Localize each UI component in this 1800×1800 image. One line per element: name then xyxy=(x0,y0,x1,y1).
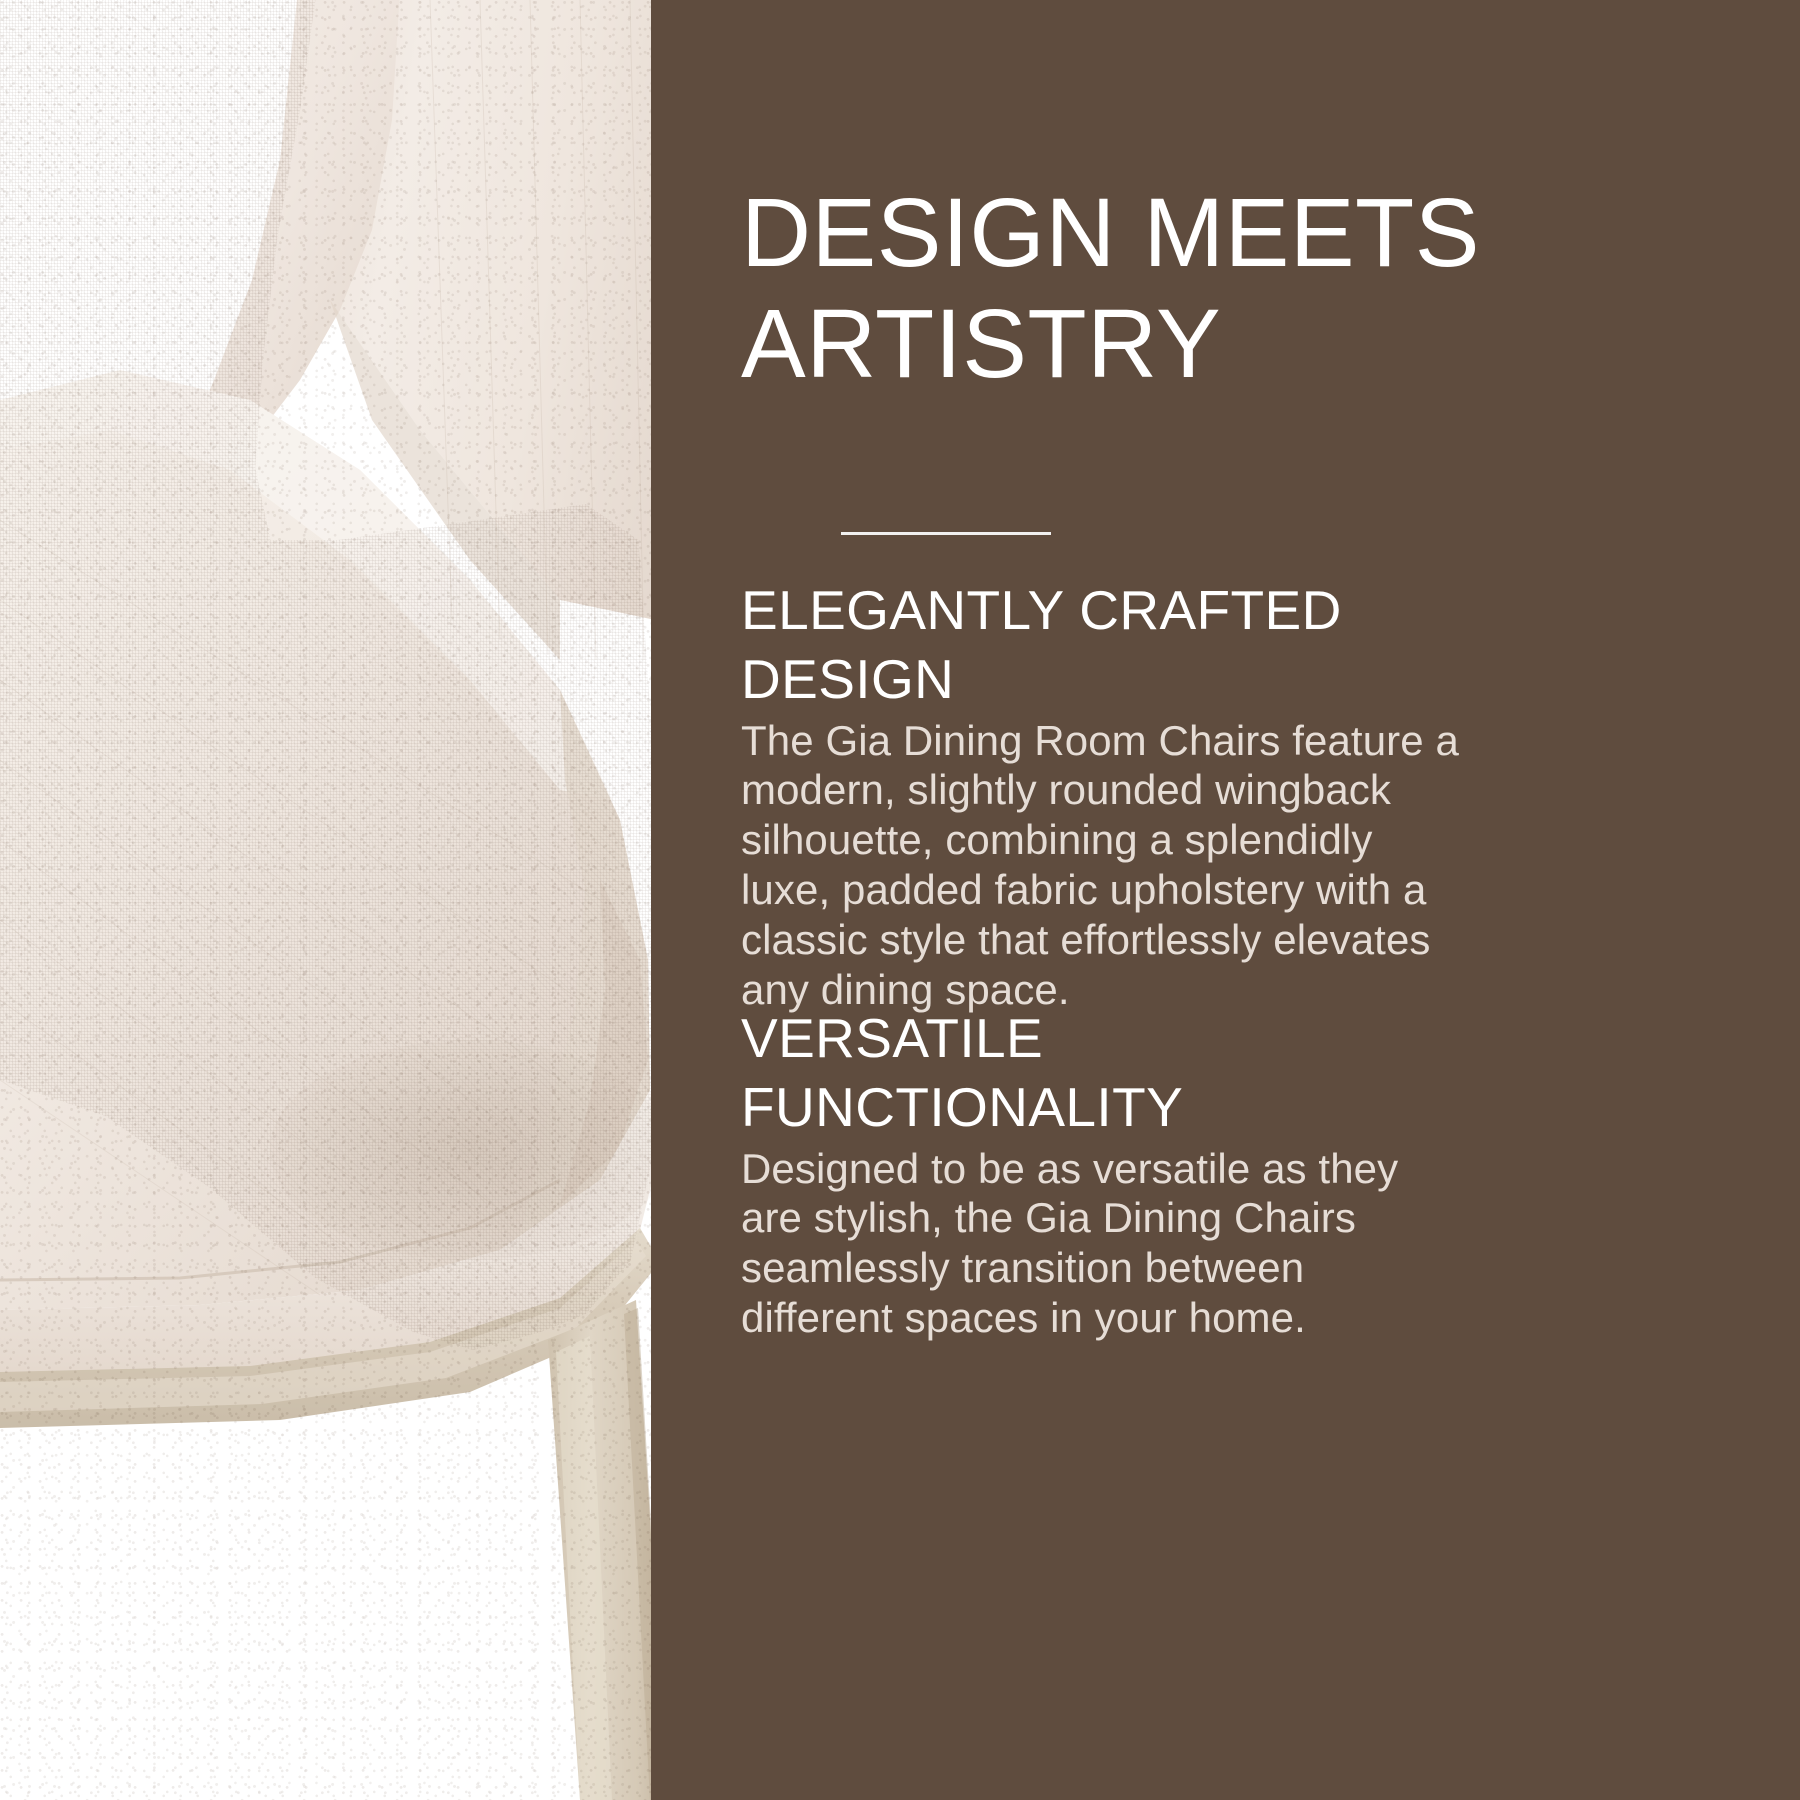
armchair-photo-illustration xyxy=(0,0,751,1800)
feature-section-design: ELEGANTLY CRAFTED DESIGN The Gia Dining … xyxy=(741,576,1461,1015)
marketing-banner: DESIGN MEETS ARTISTRY ELEGANTLY CRAFTED … xyxy=(0,0,1800,1800)
title-divider xyxy=(841,532,1051,535)
section-title-elegantly-crafted-design: ELEGANTLY CRAFTED DESIGN xyxy=(741,576,1461,714)
page-title: DESIGN MEETS ARTISTRY xyxy=(741,178,1561,399)
product-photo xyxy=(0,0,751,1800)
feature-section-functionality: VERSATILE FUNCTIONALITY Designed to be a… xyxy=(741,1004,1461,1343)
section-body-elegantly-crafted-design: The Gia Dining Room Chairs feature a mod… xyxy=(741,716,1461,1016)
info-panel: DESIGN MEETS ARTISTRY ELEGANTLY CRAFTED … xyxy=(651,0,1800,1800)
section-title-versatile-functionality: VERSATILE FUNCTIONALITY xyxy=(741,1004,1461,1142)
section-body-versatile-functionality: Designed to be as versatile as they are … xyxy=(741,1144,1461,1344)
